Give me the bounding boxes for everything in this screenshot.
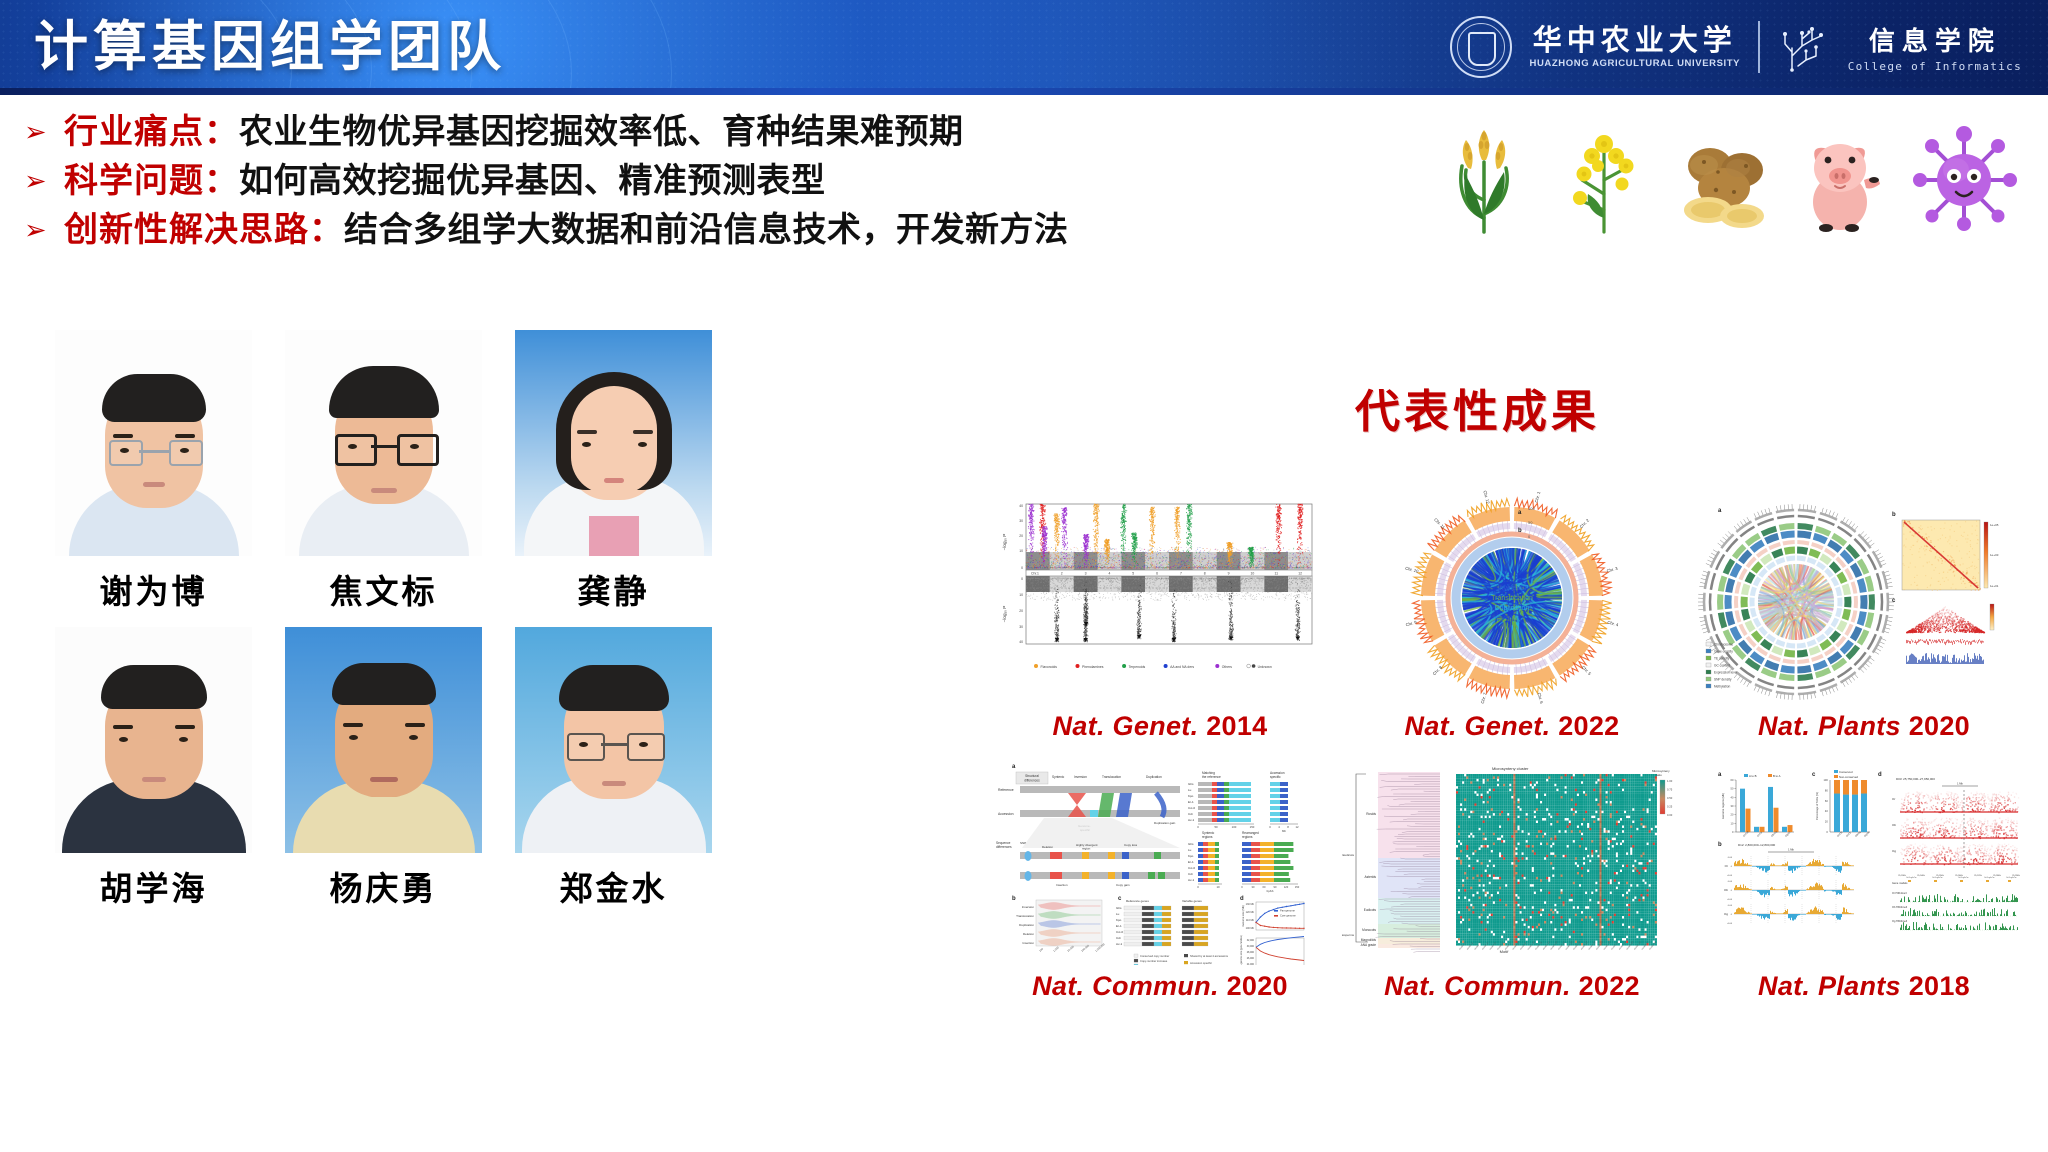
svg-text:10: 10	[1019, 593, 1023, 597]
svg-text:1: 1	[1037, 572, 1039, 576]
svg-text:12: 12	[1298, 572, 1302, 576]
svg-text:2: 2	[1061, 572, 1063, 576]
figure-cell[interactable]: a Structural differences Syntenic Invers…	[990, 750, 1330, 1002]
member-photo	[55, 330, 252, 556]
journal-name: Nat. Commun.	[1032, 971, 1219, 1001]
member-name: 杨庆勇	[285, 862, 482, 910]
svg-text:10: 10	[1019, 549, 1023, 553]
heatmap-row-label: Motif	[1500, 949, 1510, 954]
header-underline	[0, 88, 2048, 95]
circuit-tree-icon	[1778, 22, 1830, 72]
svg-text:8: 8	[1204, 572, 1206, 576]
journal-name: Nat. Genet.	[1053, 711, 1199, 741]
university-seal-icon	[1450, 16, 1512, 78]
team-member[interactable]: 胡学海	[55, 627, 252, 910]
member-name: 胡学海	[55, 862, 252, 910]
college-name-cn: 信息学院	[1869, 21, 2001, 58]
rapeseed-flower-icon	[1548, 122, 1660, 234]
svg-text:−log₁₀ P: −log₁₀ P	[1002, 534, 1007, 551]
member-photo	[515, 330, 712, 556]
bullet-arrow-icon: ➢	[24, 119, 64, 146]
team-member-grid: 谢为博 焦文标	[55, 330, 955, 924]
university-name-cn: 华中农业大学	[1533, 25, 1737, 55]
figure-caption: Nat. Genet. 2022	[1342, 711, 1682, 742]
fig-sv-schema: a Structural differences Syntenic Invers…	[990, 750, 1330, 965]
svg-text:9: 9	[1228, 572, 1230, 576]
team-member[interactable]: 焦文标	[285, 330, 482, 613]
svg-text:7: 7	[1180, 572, 1182, 576]
journal-year: 2022	[1579, 971, 1640, 1001]
team-row: 谢为博 焦文标	[55, 330, 955, 613]
svg-text:40: 40	[1019, 504, 1023, 508]
member-photo	[55, 627, 252, 853]
team-row: 胡学海 杨庆勇	[55, 627, 955, 910]
team-member[interactable]: 龚静	[515, 330, 712, 613]
journal-year: 2020	[1909, 711, 1970, 741]
bullet-text: 结合多组学大数据和前沿信息技术，开发新方法	[344, 202, 1069, 251]
bullet-arrow-icon: ➢	[24, 217, 64, 244]
svg-text:11: 11	[1274, 572, 1278, 576]
bullet-item: ➢ 创新性解决思路： 结合多组学大数据和前沿信息技术，开发新方法	[24, 202, 1424, 247]
svg-text:30: 30	[1019, 625, 1023, 629]
bullet-item: ➢ 行业痛点： 农业生物优异基因挖掘效率低、育种结果难预期	[24, 104, 1424, 149]
team-member[interactable]: 郑金水	[515, 627, 712, 910]
fig-circos-hic: a ChromosomeGene densityTE densityGC con…	[1694, 490, 2034, 705]
figure-grid: −log₁₀ P −log₁₀ P 403020 100 01020 3040	[990, 490, 2035, 1010]
fig-manhattan: −log₁₀ P −log₁₀ P 403020 100 01020 3040	[990, 490, 1330, 705]
virus-icon	[1908, 122, 2020, 234]
figure-cell[interactable]: RosidsAsteridsEudicotsMonocotsMagnoliids…	[1342, 750, 1682, 1002]
team-member[interactable]: 杨庆勇	[285, 627, 482, 910]
svg-text:0: 0	[1021, 566, 1023, 570]
journal-name: Nat. Plants	[1758, 971, 1901, 1001]
heatmap-column-label: Microsynteny cluster	[1492, 766, 1529, 771]
journal-year: 2022	[1558, 711, 1619, 741]
journal-name: Nat. Commun.	[1384, 971, 1571, 1001]
journal-name: Nat. Genet.	[1405, 711, 1551, 741]
fig-tree-heat: RosidsAsteridsEudicotsMonocotsMagnoliids…	[1342, 750, 1682, 965]
svg-text:6: 6	[1156, 572, 1158, 576]
journal-name: Nat. Plants	[1758, 711, 1901, 741]
member-name: 焦文标	[285, 565, 482, 613]
bullet-list: ➢ 行业痛点： 农业生物优异基因挖掘效率低、育种结果难预期 ➢ 科学问题： 如何…	[24, 104, 1424, 251]
member-photo	[515, 627, 712, 853]
bullet-arrow-icon: ➢	[24, 168, 64, 195]
svg-text:20: 20	[1019, 609, 1023, 613]
bullet-text: 农业生物优异基因挖掘效率低、育种结果难预期	[239, 104, 964, 153]
member-photo	[285, 627, 482, 853]
bullet-text: 如何高效挖掘优异基因、精准预测表型	[239, 153, 826, 202]
bullet-key: 科学问题：	[64, 153, 239, 202]
member-name: 谢为博	[55, 565, 252, 613]
fig-compartment: a 0102030405060Genome regions (Mb)Or/OбO…	[1694, 750, 2034, 965]
page-title: 计算基因组学团队	[34, 5, 506, 89]
chord-label-translocation: Translocation	[1491, 595, 1533, 602]
figure-caption: Nat. Genet. 2014	[990, 711, 1330, 742]
pig-icon	[1788, 122, 1900, 234]
svg-text:10: 10	[1251, 572, 1255, 576]
member-photo	[285, 330, 482, 556]
svg-text:5: 5	[1132, 572, 1134, 576]
slide-header: 计算基因组学团队 华中农业大学 HUAZHONG AGRICULTURAL UN…	[0, 0, 2048, 95]
institution-logos: 华中农业大学 HUAZHONG AGRICULTURAL UNIVERSITY …	[1450, 8, 2023, 86]
figure-caption: Nat. Plants 2018	[1694, 971, 2034, 1002]
bullet-key: 行业痛点：	[64, 104, 239, 153]
figure-caption: Nat. Commun. 2022	[1342, 971, 1682, 1002]
svg-text:3: 3	[1085, 572, 1087, 576]
figure-row: −log₁₀ P −log₁₀ P 403020 100 01020 3040	[990, 490, 2035, 742]
figure-cell[interactable]: a 0102030405060Genome regions (Mb)Or/OбO…	[1694, 750, 2034, 1002]
svg-text:40: 40	[1019, 640, 1023, 644]
potato-icon	[1668, 122, 1780, 234]
svg-text:30: 30	[1019, 519, 1023, 523]
chord-label-duplication: Duplication	[1495, 605, 1530, 612]
svg-text:−log₁₀ P: −log₁₀ P	[1002, 606, 1007, 623]
svg-text:4: 4	[1108, 572, 1110, 576]
university-name-en: HUAZHONG AGRICULTURAL UNIVERSITY	[1530, 58, 1741, 69]
fig-circos-sv: Chr. 1Chr. 2Chr. 3Chr. 4Chr. 5Chr. 6Chr.…	[1342, 490, 1682, 705]
journal-year: 2014	[1206, 711, 1267, 741]
slide-root: 计算基因组学团队 华中农业大学 HUAZHONG AGRICULTURAL UN…	[0, 0, 2048, 1152]
journal-year: 2018	[1909, 971, 1970, 1001]
rice-plant-icon	[1428, 122, 1540, 234]
figure-row: a Structural differences Syntenic Invers…	[990, 750, 2035, 1002]
bullet-item: ➢ 科学问题： 如何高效挖掘优异基因、精准预测表型	[24, 153, 1424, 198]
figure-caption: Nat. Commun. 2020	[990, 971, 1330, 1002]
organism-icon-row	[1428, 118, 2028, 234]
journal-year: 2020	[1227, 971, 1288, 1001]
results-heading: 代表性成果	[1355, 375, 1600, 440]
figure-cell[interactable]: a ChromosomeGene densityTE densityGC con…	[1694, 490, 2034, 742]
figure-cell[interactable]: −log₁₀ P −log₁₀ P 403020 100 01020 3040	[990, 490, 1330, 742]
logo-divider	[1758, 21, 1760, 73]
member-name: 郑金水	[515, 862, 712, 910]
chord-label-inversion: Inversion	[1498, 585, 1527, 592]
svg-text:20: 20	[1019, 534, 1023, 538]
college-name-en: College of Informatics	[1848, 60, 2022, 73]
figure-cell[interactable]: Chr. 1Chr. 2Chr. 3Chr. 4Chr. 5Chr. 6Chr.…	[1342, 490, 1682, 742]
member-name: 龚静	[515, 565, 712, 613]
bullet-key: 创新性解决思路：	[64, 202, 344, 251]
figure-caption: Nat. Plants 2020	[1694, 711, 2034, 742]
team-member[interactable]: 谢为博	[55, 330, 252, 613]
svg-text:0: 0	[1021, 577, 1023, 581]
